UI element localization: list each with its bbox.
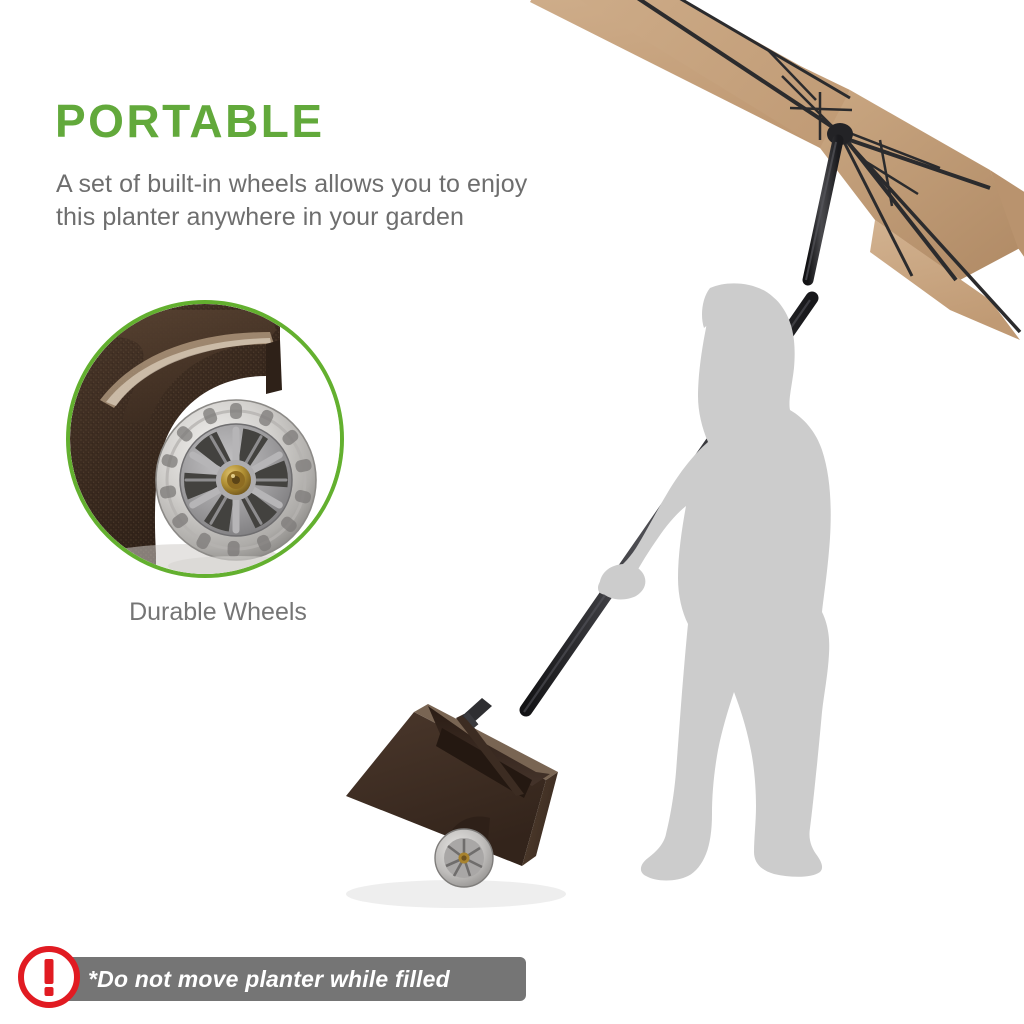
inset-caption: Durable Wheels	[88, 598, 348, 627]
inset-green-ring	[66, 300, 344, 578]
subtitle-line-2: this planter anywhere in your garden	[56, 201, 736, 234]
person-silhouette	[598, 282, 848, 892]
subtitle-line-1: A set of built-in wheels allows you to e…	[56, 168, 736, 201]
product-marketing-image: PORTABLE A set of built-in wheels allows…	[0, 0, 1024, 1024]
page-title: PORTABLE	[55, 98, 325, 144]
planter-box-on-wheels	[336, 676, 616, 926]
wheel-closeup-illustration	[70, 304, 340, 574]
page-subtitle: A set of built-in wheels allows you to e…	[56, 168, 736, 235]
inset-photo	[70, 304, 340, 574]
warning-text: *Do not move planter while filled	[88, 957, 450, 1001]
wheel-closeup-inset: Durable Wheels	[66, 300, 352, 626]
exclamation-circle-icon	[16, 944, 82, 1010]
warning-banner: *Do not move planter while filled	[40, 957, 526, 1001]
